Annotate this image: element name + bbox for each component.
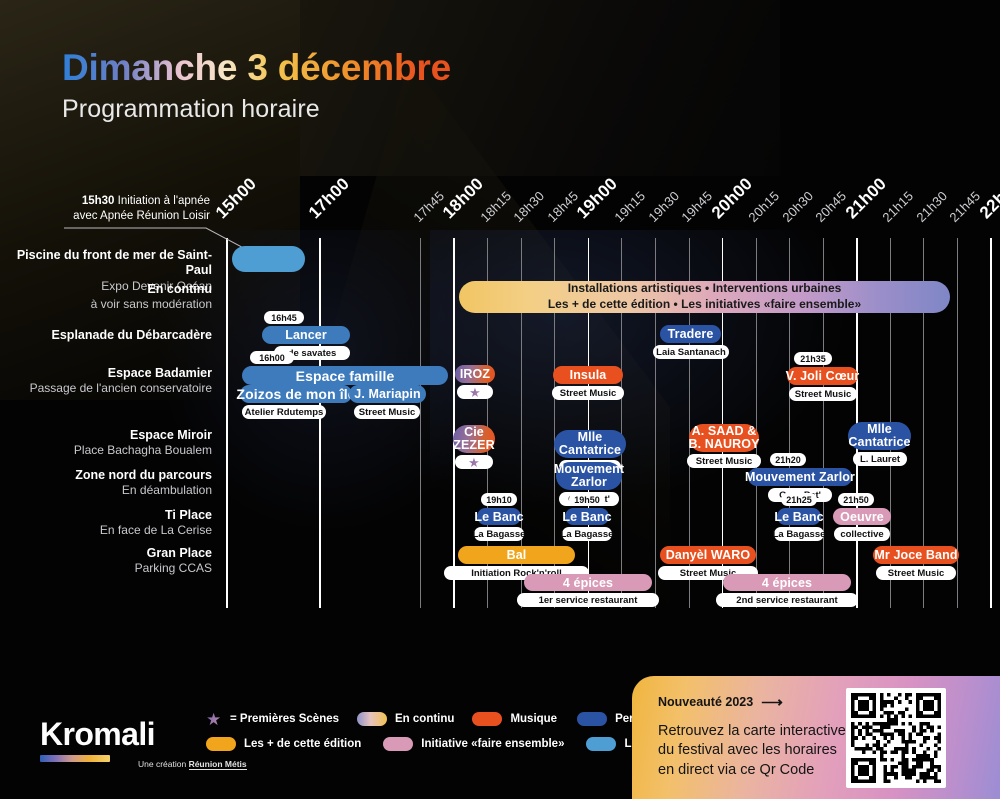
legend-swatch [577,712,607,726]
event-title: Zoizos de mon île [236,386,355,402]
row-label-2: Esplanade du Débarcadère [0,328,212,343]
qr-description: Retrouvez la carte interactive du festiv… [658,722,846,780]
event-sub-joce: Street Music [876,566,956,580]
axis-tick-19h30: 19h30 [645,188,682,225]
event-sub-insula: Street Music [552,386,624,400]
axis-tick-20h30: 20h30 [779,188,816,225]
legend-swatch-gradient [357,712,387,726]
event-pill-zarlor2[interactable]: Mouvement Zarlor [748,468,852,486]
event-pill-expo[interactable] [232,246,305,272]
event-title: IROZ [460,367,490,381]
row-label-venue: Passage de l'ancien conservatoire [0,381,212,396]
continu-banner-line-1: Installations artistiques • Intervention… [568,281,842,297]
row-label-venue: En déambulation [0,483,212,498]
event-title-part: B. NAUROY [688,438,759,451]
event-sub-banc3: La Bagasse [774,527,824,541]
event-pill-insula[interactable]: Insula [553,366,623,384]
event-pill-banc3[interactable]: Le Banc [777,508,821,525]
event-title: Bal [507,548,527,562]
event-time-joli-coeur: 21h35 [794,352,832,365]
event-sub-joli-coeur: Street Music [789,387,857,401]
star-icon: ★ [468,456,480,469]
qr-code-svg [851,693,941,783]
axis-tick-19h15: 19h15 [611,188,648,225]
event-title-part: ZEZER [453,439,494,452]
gridline-18h00 [453,238,455,608]
event-time-espace-fam: 16h00 [250,351,294,364]
event-title: Insula [570,368,607,382]
legend-row-2: Les + de cette éditionInitiative «faire … [206,737,626,751]
event-title: Le Banc [474,510,523,524]
event-pill-iroz[interactable]: IROZ [455,365,495,383]
row-label-4: Espace MiroirPlace Bachagha Boualem [0,428,212,458]
event-sub-epices2: 2nd service restaurant [716,593,858,607]
row-label-1: En continuà voir sans modération [0,282,212,312]
legend-item-0: Les + de cette édition [206,737,361,751]
legend-star-icon: ★ [206,712,226,726]
event-time-banc3: 21h25 [781,493,817,506]
page-title: Dimanche 3 décembre [62,48,451,89]
event-title: 4 épices [563,576,613,590]
event-pill-cantatrice1[interactable]: MlleCantatrice [554,430,626,458]
legend-swatch [472,712,502,726]
event-pill-joli-coeur[interactable]: V. Joli Cœur [787,367,858,385]
event-title: V. Joli Cœur [786,369,860,383]
qr-code-image[interactable] [846,688,946,788]
event-title-part: Cantatrice [559,444,621,457]
legend-item-1: Initiative «faire ensemble» [383,737,564,751]
event-time-lancer: 16h45 [264,311,304,324]
gridline-17h45 [420,238,421,608]
logo-wordmark: Kromali [40,718,155,750]
qr-badge-label: Nouveauté 2023 [658,695,753,709]
event-pill-epices1[interactable]: 4 épices [524,574,652,591]
event-title: Espace famille [296,368,395,384]
event-title: Le Banc [774,510,823,524]
event-pill-waro[interactable]: Danyèl WARO [660,546,756,564]
legend: ★= Premières ScènesEn continuMusiquePerf… [206,712,626,762]
row-label-venue: En face de La Cerise [0,523,212,538]
legend-swatch [586,737,616,751]
arrow-right-icon: ⟶ [761,695,783,710]
event-pill-zarlor1[interactable]: MouvementZarlor [556,462,622,490]
event-pill-joce[interactable]: Mr Joce Band [873,546,959,564]
event-title: Le Banc [562,510,611,524]
legend-label: En continu [395,713,454,725]
event-title: Tradere [668,327,714,341]
row-label-venue: Place Bachagha Boualem [0,443,212,458]
event-time-zarlor2: 21h20 [770,453,806,466]
qr-text-block: Nouveauté 2023 ⟶ Retrouvez la carte inte… [632,695,846,780]
row-label-name: Ti Place [0,508,212,523]
event-title: 4 épices [762,576,812,590]
logo-gradient-bar [40,755,110,762]
en-continu-banner[interactable]: Installations artistiques • Intervention… [459,281,950,313]
gridline-22h00 [990,238,992,608]
star-icon: ★ [206,711,221,728]
axis-tick-18h30: 18h30 [511,188,548,225]
row-label-5: Zone nord du parcoursEn déambulation [0,468,212,498]
event-title: Lancer [285,328,327,342]
qr-badge: Nouveauté 2023 ⟶ [658,695,846,710]
axis-tick-15h00: 15h00 [212,174,261,223]
page-subtitle: Programmation horaire [62,95,451,124]
event-title: J. Mariapin [354,387,420,401]
row-label-7: Gran PlaceParking CCAS [0,546,212,576]
event-sub-zoizos: Atelier Rdutemps [242,405,326,419]
legend-swatch [206,737,236,751]
legend-label: Musique [510,713,557,725]
qr-panel[interactable]: Nouveauté 2023 ⟶ Retrouvez la carte inte… [632,676,1000,799]
row-label-name: Piscine du front de mer de Saint-Paul [0,248,212,279]
event-pill-banc1[interactable]: Le Banc [477,508,521,525]
legend-item-2: Musique [472,712,557,726]
event-badge-zezer: ★ [455,455,493,469]
event-badge-iroz: ★ [457,385,493,399]
event-sub-saad: Street Music [687,454,761,468]
event-time-banc2: 19h50 [569,493,605,506]
event-title: Oeuvre [840,510,884,524]
event-pill-banc2[interactable]: Le Banc [565,508,609,525]
axis-tick-18h15: 18h15 [477,188,514,225]
event-sub-tradere: Laia Santanach [653,345,729,359]
logo-tagline-prefix: Une création [138,759,189,769]
event-sub-banc1: La Bagasse [474,527,524,541]
continu-banner-line-2: Les + de cette édition • Les initiatives… [548,297,861,313]
event-sub-mariapin: Street Music [354,405,420,419]
event-sub-cantatrice2: L. Lauret [853,452,907,466]
event-title: Danyèl WARO [666,548,750,562]
page-header: Dimanche 3 décembre Programmation horair… [62,48,451,124]
legend-item-1: En continu [357,712,454,726]
row-label-name: Zone nord du parcours [0,468,212,483]
event-pill-epices2[interactable]: 4 épices [723,574,851,591]
row-label-venue: à voir sans modération [0,297,212,312]
event-pill-lancer[interactable]: Lancer [262,326,350,344]
row-label-name: Espace Badamier [0,366,212,381]
event-pill-mariapin[interactable]: J. Mariapin [349,385,426,403]
legend-label: Initiative «faire ensemble» [421,738,564,750]
legend-label: = Premières Scènes [230,713,339,725]
axis-tick-21h30: 21h30 [913,188,950,225]
legend-row-1: ★= Premières ScènesEn continuMusiquePerf… [206,712,626,726]
event-pill-espace-fam[interactable]: Espace famille [242,366,448,385]
row-label-name: En continu [0,282,212,297]
gridline-17h00 [319,238,321,608]
event-title-part: Zarlor [571,476,607,489]
kromali-logo: Kromali Une création Réunion Métis [40,718,155,762]
row-label-name: Esplanade du Débarcadère [0,328,212,343]
event-time-banc1: 19h10 [481,493,517,506]
row-label-3: Espace BadamierPassage de l'ancien conse… [0,366,212,396]
event-pill-zoizos[interactable]: Zoizos de mon île [240,385,352,403]
event-pill-saad[interactable]: A. SAAD &B. NAUROY [689,424,759,452]
event-title: Mouvement Zarlor [745,470,855,484]
event-pill-cantatrice2[interactable]: MlleCantatrice [848,422,911,450]
row-label-6: Ti PlaceEn face de La Cerise [0,508,212,538]
event-title: Mr Joce Band [874,548,957,562]
legend-label: Les + de cette édition [244,738,361,750]
legend-item-0: ★= Premières Scènes [206,712,339,726]
row-label-name: Gran Place [0,546,212,561]
row-label-name: Espace Miroir [0,428,212,443]
legend-swatch [383,737,413,751]
event-sub-oeuvre: collective [834,527,890,541]
star-icon: ★ [469,386,481,399]
event-pill-tradere[interactable]: Tradere [660,325,721,343]
event-title-part: Cantatrice [848,436,910,449]
event-sub-epices1: 1er service restaurant [517,593,659,607]
row-label-venue: Parking CCAS [0,561,212,576]
event-time-oeuvre: 21h50 [838,493,874,506]
event-pill-bal[interactable]: Bal [458,546,575,564]
axis-tick-17h00: 17h00 [305,174,354,223]
event-pill-oeuvre[interactable]: Oeuvre [833,508,891,525]
event-pill-zezer[interactable]: CieZEZER [453,425,495,453]
gridline-15h00 [226,238,228,608]
event-sub-banc2: La Bagasse [562,527,612,541]
